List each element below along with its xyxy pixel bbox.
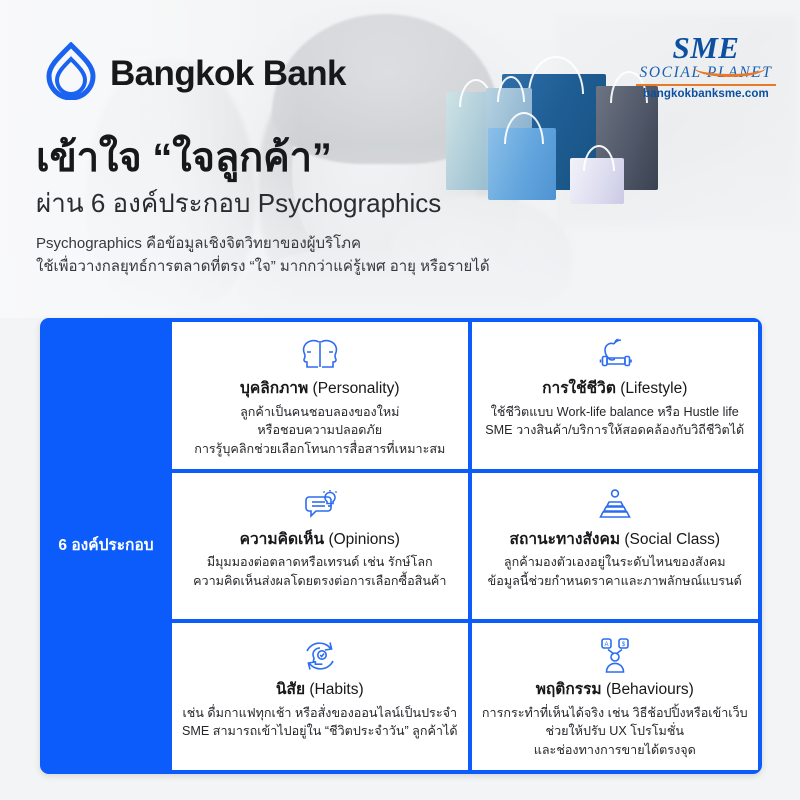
component-title-behaviours: พฤติกรรม (Behaviours) xyxy=(536,681,694,700)
component-card-social-class[interactable]: สถานะทางสังคม (Social Class) ลูกค้ามองตั… xyxy=(472,473,758,620)
component-title-social-class: สถานะทางสังคม (Social Class) xyxy=(510,531,721,550)
component-description-lifestyle: ใช้ชีวิตแบบ Work-life balance หรือ Hustl… xyxy=(485,403,744,440)
component-card-personality[interactable]: บุคลิกภาพ (Personality) ลูกค้าเป็นคนชอบล… xyxy=(172,322,468,469)
sme-social-planet-logo[interactable]: SME SOCIAL PLANET bangkokbanksme.com xyxy=(630,32,782,100)
component-description-opinions: มีมุมมองต่อตลาดหรือเทรนด์ เช่น รักษ์โลก … xyxy=(193,553,446,590)
hero-description-line-2: ใช้เพื่อวางกลยุทธ์การตลาดที่ตรง “ใจ” มาก… xyxy=(36,256,556,279)
component-card-opinions[interactable]: ความคิดเห็น (Opinions) มีมุมมองต่อตลาดหร… xyxy=(172,473,468,620)
component-card-behaviours[interactable]: A $ พฤติกรรม (Behaviours) การกระทำที่เห็… xyxy=(472,623,758,770)
bangkok-bank-logo[interactable]: Bangkok Bank xyxy=(44,42,346,105)
svg-text:A: A xyxy=(604,642,608,648)
two-heads-personality-icon xyxy=(299,335,341,375)
component-description-behaviours: การกระทำที่เห็นได้จริง เช่น วิธีช้อปปิ้ง… xyxy=(482,704,748,760)
component-description-social-class: ลูกค้ามองตัวเองอยู่ในระดับไหนของสังคม ข้… xyxy=(488,553,742,590)
page-title: เข้าใจ “ใจลูกค้า” xyxy=(36,136,556,181)
bangkok-bank-name: Bangkok Bank xyxy=(110,54,346,94)
component-card-lifestyle[interactable]: การใช้ชีวิต (Lifestyle) ใช้ชีวิตแบบ Work… xyxy=(472,322,758,469)
apple-dumbbell-lifestyle-icon xyxy=(594,335,636,375)
sme-divider xyxy=(636,84,776,86)
bangkok-bank-leaf-icon xyxy=(44,42,98,105)
component-card-habits[interactable]: นิสัย (Habits) เช่น ดื่มกาแฟทุกเช้า หรือ… xyxy=(172,623,468,770)
component-title-personality: บุคลิกภาพ (Personality) xyxy=(240,380,400,399)
panel-side-label: 6 องค์ประกอบ xyxy=(40,318,172,774)
infographic-root: SME SOCIAL PLANET bangkokbanksme.com Ban… xyxy=(0,0,800,800)
component-title-opinions: ความคิดเห็น (Opinions) xyxy=(240,531,400,550)
components-grid: บุคลิกภาพ (Personality) ลูกค้าเป็นคนชอบล… xyxy=(172,318,762,774)
person-choices-behaviours-icon: A $ xyxy=(594,636,636,676)
component-title-habits: นิสัย (Habits) xyxy=(276,681,364,700)
svg-text:$: $ xyxy=(622,642,626,648)
hero-description-line-1: Psychographics คือข้อมูลเชิงจิตวิทยาของผ… xyxy=(36,233,556,256)
page-subtitle: ผ่าน 6 องค์ประกอบ Psychographics xyxy=(36,187,556,220)
components-panel: 6 องค์ประกอบ บุคลิกภาพ (Personality) ลูก… xyxy=(40,318,762,774)
pyramid-social-class-icon xyxy=(595,486,635,526)
sme-swoosh-icon xyxy=(694,58,766,77)
hero-text-block: เข้าใจ “ใจลูกค้า” ผ่าน 6 องค์ประกอบ Psyc… xyxy=(36,136,556,278)
component-title-lifestyle: การใช้ชีวิต (Lifestyle) xyxy=(542,380,687,399)
component-description-personality: ลูกค้าเป็นคนชอบลองของใหม่ หรือชอบความปลอ… xyxy=(194,403,445,459)
speech-bubble-lightbulb-opinions-icon xyxy=(299,486,341,526)
cycle-head-habits-icon xyxy=(300,636,340,676)
component-description-habits: เช่น ดื่มกาแฟทุกเช้า หรือสั่งของออนไลน์เ… xyxy=(182,704,458,741)
sme-website-url: bangkokbanksme.com xyxy=(630,88,782,100)
